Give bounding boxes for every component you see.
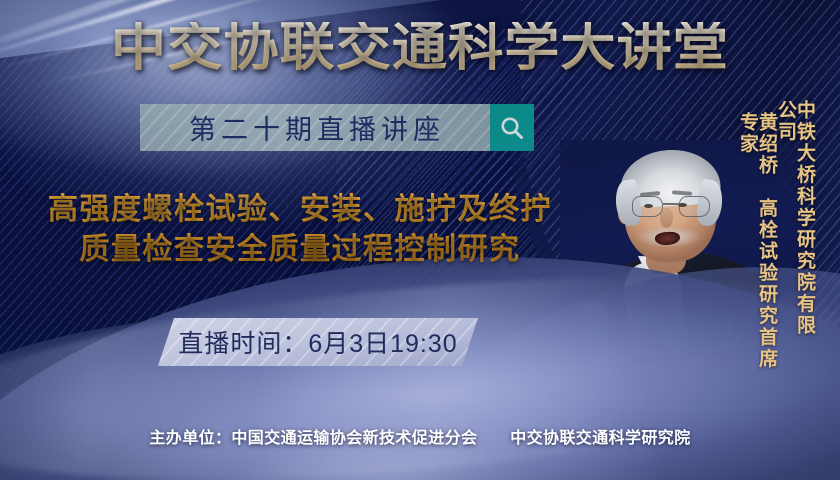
glasses-lens bbox=[632, 196, 663, 217]
subtitle-text: 第二十期直播讲座 bbox=[140, 104, 490, 151]
speaker-name-and-title: 黄绍桥 高栓试验研究首席专家 bbox=[738, 112, 776, 374]
speaker-nose bbox=[660, 208, 673, 228]
live-time-text: 直播时间：6月3日19:30 bbox=[158, 318, 478, 366]
topic-line-2: 质量检查安全质量过程控制研究 bbox=[0, 230, 600, 270]
organizer-footer: 主办单位：中国交通运输协会新技术促进分会 中交协联交通科学研究院 bbox=[0, 424, 840, 448]
search-icon[interactable] bbox=[490, 104, 534, 151]
topic-line-1: 高强度螺栓试验、安装、施拧及终拧 bbox=[48, 193, 552, 226]
main-title: 中交协联交通科学大讲堂 bbox=[0, 22, 840, 74]
glasses-lens bbox=[679, 196, 710, 217]
live-lecture-promo-banner: 中交协联交通科学大讲堂 中交协联交通科学大讲堂 第二十期直播讲座 高强度螺栓试验… bbox=[0, 0, 840, 480]
lecture-topic: 高强度螺栓试验、安装、施拧及终拧 质量检查安全质量过程控制研究 bbox=[0, 190, 600, 270]
glasses-bridge bbox=[663, 203, 679, 205]
speaker-organization: 中铁大桥科学研究院有限公司 bbox=[776, 100, 814, 350]
